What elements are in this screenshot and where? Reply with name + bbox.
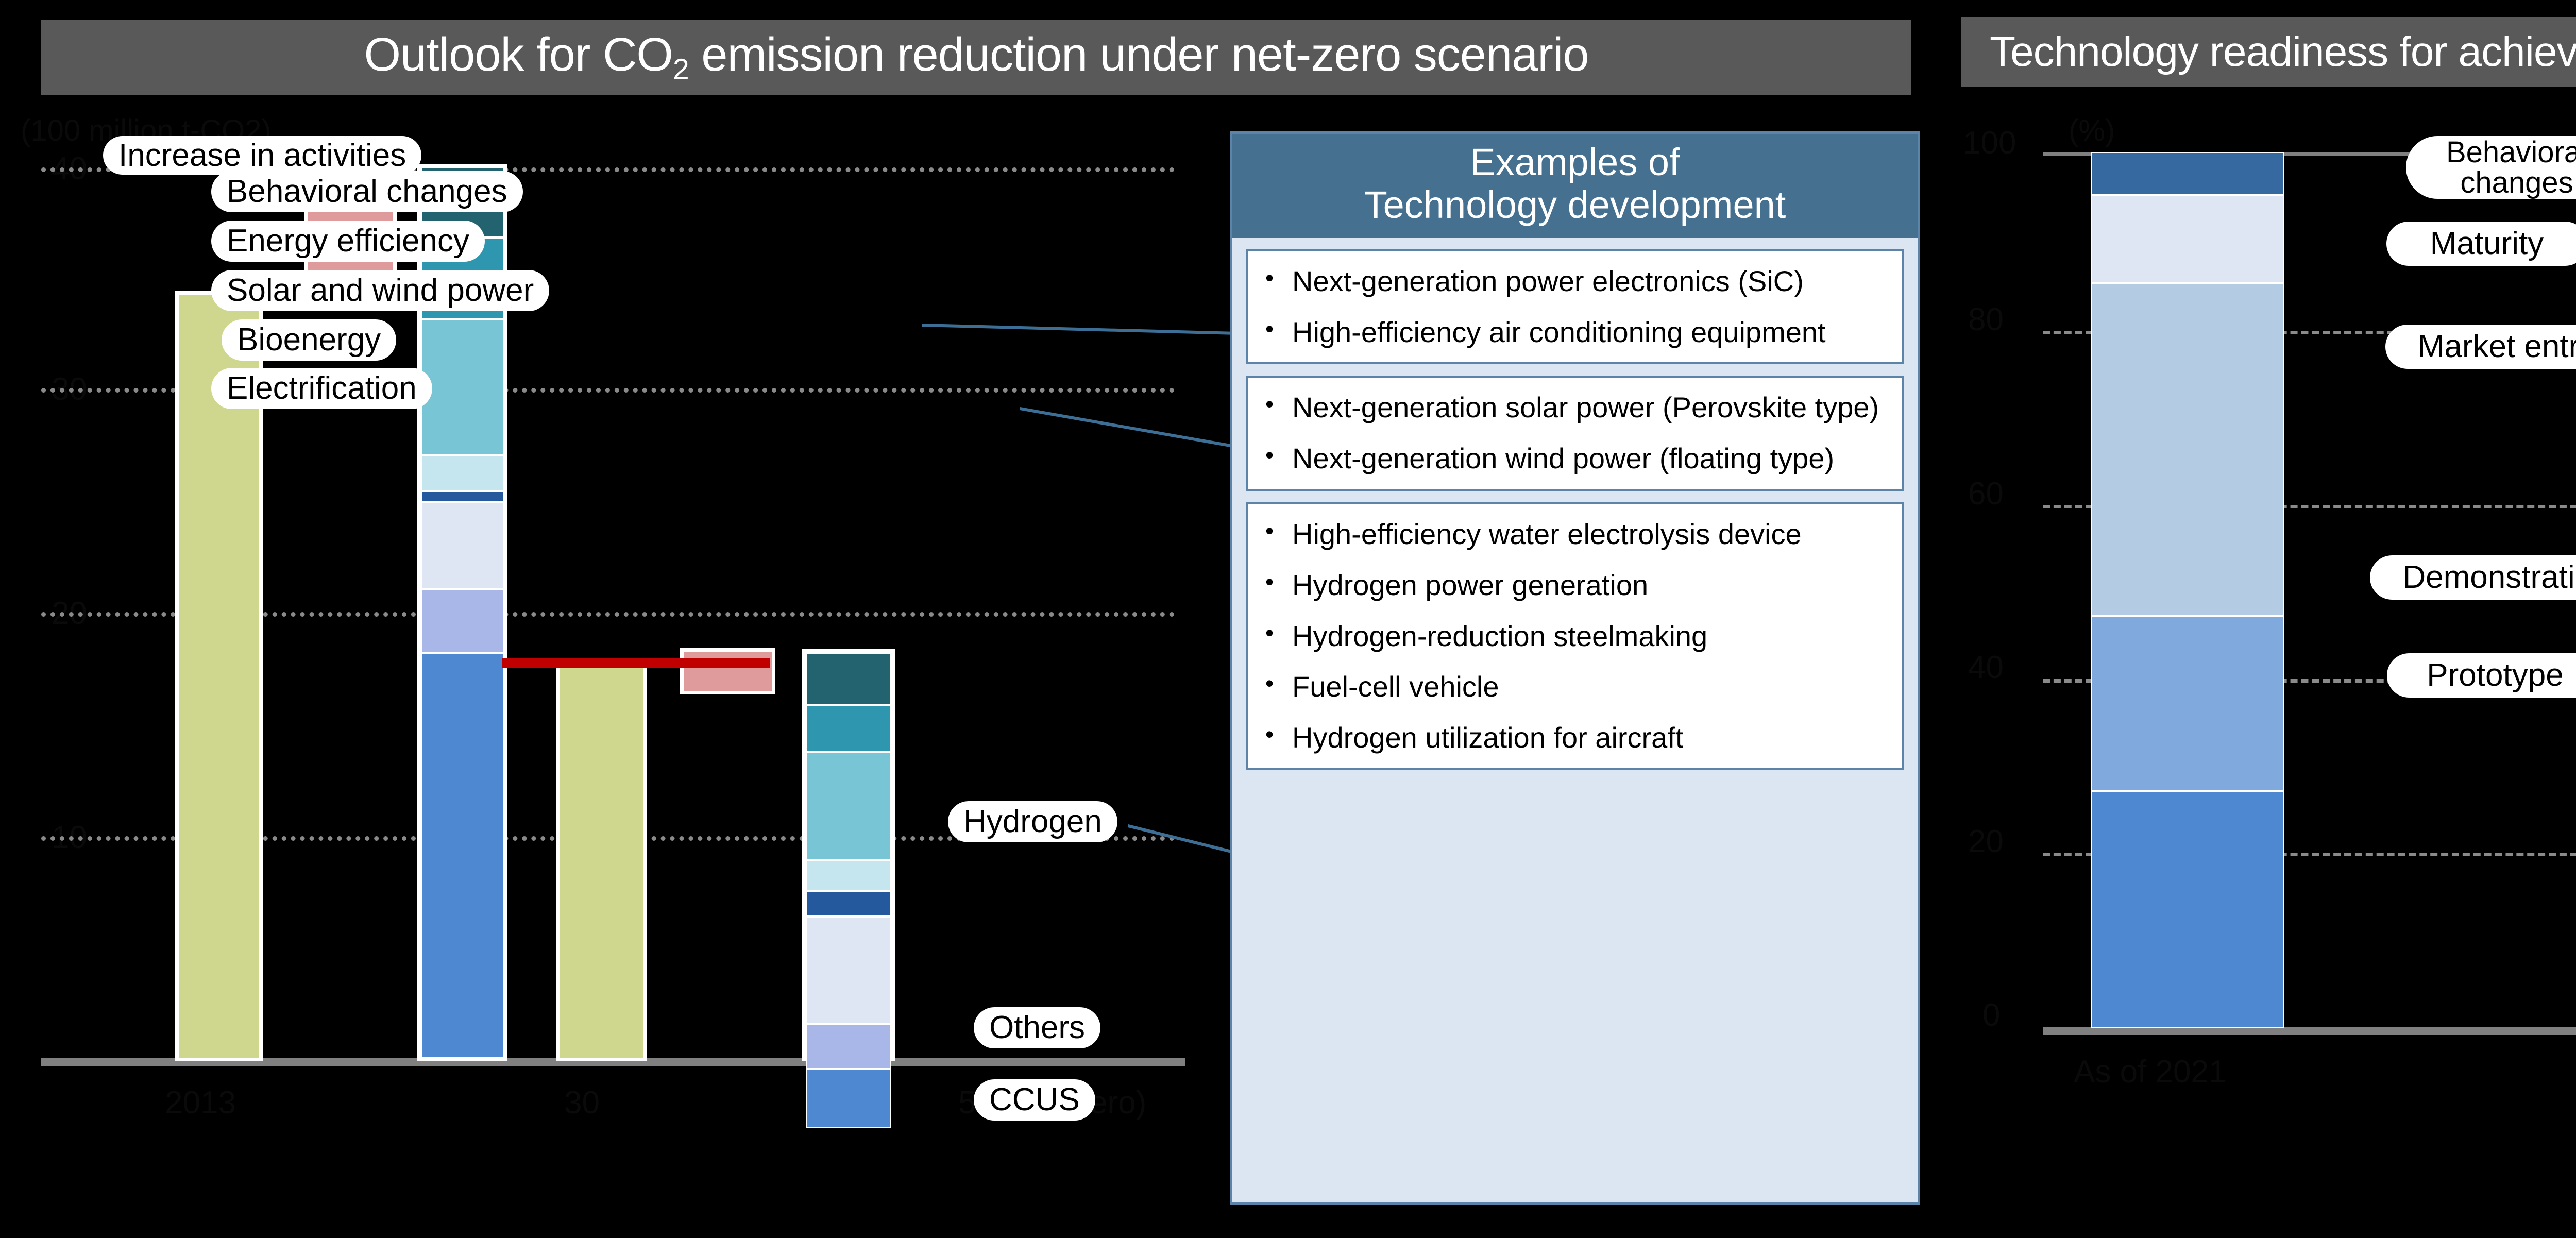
seg-behavioral-2021 <box>2091 152 2284 195</box>
example-item: Hydrogen power generation <box>1261 567 1889 604</box>
examples-box-2: Next-generation solar power (Perovskite … <box>1246 376 1904 491</box>
right-ytick-40: 40 <box>1968 649 2004 686</box>
legend-behavioral-line1: Behavioral <box>2446 137 2576 167</box>
example-item: Hydrogen utilization for aircraft <box>1261 719 1889 757</box>
right-axis-unit: (%) <box>2069 113 2115 148</box>
callout-bioenergy: Bioenergy <box>222 319 396 361</box>
legend-maturity: Maturity <box>2386 222 2576 266</box>
example-item: High-efficiency air conditioning equipme… <box>1261 314 1889 351</box>
left-panel-title: Outlook for CO2 emission reduction under… <box>41 20 1911 95</box>
example-item: Hydrogen-reduction steelmaking <box>1261 618 1889 655</box>
examples-box-1: Next-generation power electronics (SiC) … <box>1246 249 1904 365</box>
examples-title-line1: Examples of <box>1232 141 1918 184</box>
callout-electrification: Electrification <box>211 368 432 409</box>
seg-behavioral-2030 <box>806 653 891 705</box>
callout-energy-efficiency: Energy efficiency <box>211 221 485 262</box>
seg-hydrogen-2030 <box>806 891 891 917</box>
right-baseline <box>2043 1027 2576 1035</box>
legend-prototype: Prototype <box>2387 653 2576 698</box>
examples-title-line2: Technology development <box>1232 184 1918 227</box>
seg-ccus-2030 <box>806 1069 891 1128</box>
examples-panel: Examples of Technology development Next-… <box>1230 131 1920 1205</box>
right-panel-title: Technology readiness for achieving net z… <box>1961 17 2576 87</box>
callout-others: Others <box>974 1007 1100 1048</box>
callout-hydrogen: Hydrogen <box>948 801 1117 842</box>
seg-solar-wind-2030 <box>806 752 891 860</box>
seg-bioenergy-2030 <box>806 860 891 891</box>
left-title-post: emission reduction under net-zero scenar… <box>689 28 1589 81</box>
seg-bioenergy-2013 <box>421 455 504 491</box>
left-xtick-30: 30 <box>564 1084 600 1121</box>
right-ytick-80: 80 <box>1968 301 2004 338</box>
example-item: Fuel-cell vehicle <box>1261 668 1889 706</box>
example-item: Next-generation wind power (floating typ… <box>1261 440 1889 478</box>
left-title-text: Outlook for CO2 emission reduction under… <box>364 28 1588 87</box>
right-xtick-2021: As of 2021 <box>2074 1054 2226 1090</box>
callout-behavioral-changes: Behavioral changes <box>211 171 523 212</box>
seg-others-2030 <box>806 1024 891 1069</box>
seg-efficiency-2030 <box>806 705 891 752</box>
seg-prototype-2021 <box>2091 791 2284 1028</box>
right-ytick-100: 100 <box>1963 125 2016 161</box>
stack-reduction-2030 <box>802 649 895 1061</box>
example-item: Next-generation power electronics (SiC) <box>1261 263 1889 300</box>
examples-panel-header: Examples of Technology development <box>1232 134 1918 238</box>
seg-others-2013 <box>421 589 504 653</box>
seg-maturity-2021 <box>2091 195 2284 283</box>
legend-demonstration: Demonstration <box>2370 555 2576 600</box>
bar-pink-increase-2030 <box>680 648 775 694</box>
right-ytick-60: 60 <box>1968 476 2004 512</box>
seg-ccus-2013 <box>421 653 504 1058</box>
seg-demonstration-2021 <box>2091 616 2284 791</box>
bar-green-2030 <box>556 665 647 1061</box>
examples-box-3: High-efficiency water electrolysis devic… <box>1246 502 1904 770</box>
right-title-text: Technology readiness for achieving net z… <box>1990 28 2576 76</box>
callout-solar-and-wind-power: Solar and wind power <box>211 270 549 311</box>
seg-solar-wind-2013 <box>421 319 504 455</box>
callout-increase-in-activities: Increase in activities <box>103 136 421 175</box>
stack-readiness-2021 <box>2091 152 2284 1028</box>
legend-behavioral-changes: Behavioral changes <box>2406 136 2576 199</box>
example-item: High-efficiency water electrolysis devic… <box>1261 516 1889 553</box>
seg-market-entry-2021 <box>2091 283 2284 616</box>
left-xtick-2013: 2013 <box>165 1084 236 1121</box>
seg-electrification-2013 <box>421 502 504 589</box>
seg-hydrogen-2013 <box>421 491 504 502</box>
legend-behavioral-line2: changes <box>2460 167 2573 198</box>
seg-electrification-2030 <box>806 917 891 1024</box>
right-ytick-0: 0 <box>1982 997 2000 1033</box>
left-chart: (100 million t-CO2) 40 30 20 10 2013 30 <box>0 103 1231 1133</box>
redline-2030 <box>502 658 770 668</box>
example-item: Next-generation solar power (Perovskite … <box>1261 389 1889 427</box>
left-title-subscript: 2 <box>673 54 689 87</box>
left-title-pre: Outlook for CO <box>364 28 673 81</box>
right-ytick-20: 20 <box>1968 823 2004 860</box>
callout-ccus: CCUS <box>974 1079 1095 1121</box>
legend-market-entry: Market entry <box>2385 325 2576 369</box>
